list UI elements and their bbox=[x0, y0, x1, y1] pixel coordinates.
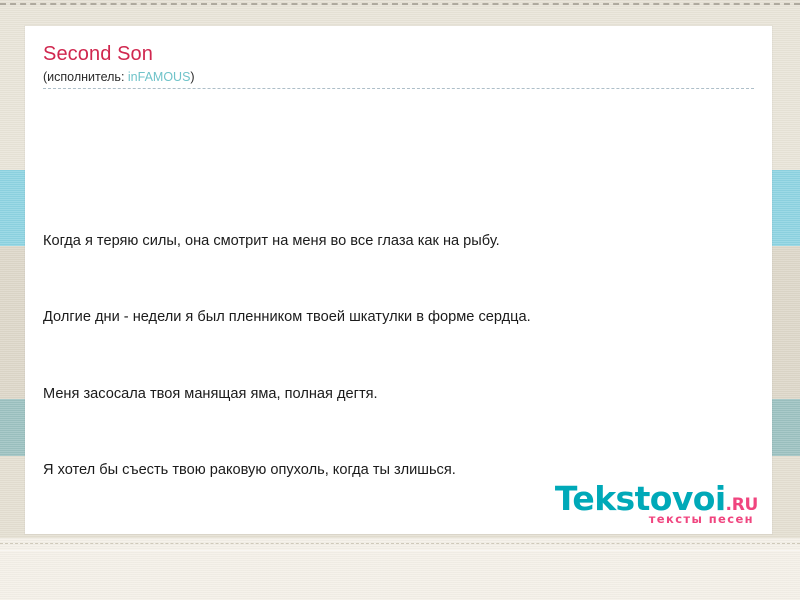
lyrics-sheet: Second Son (исполнитель: inFAMOUS) Когда… bbox=[25, 26, 772, 534]
lyrics-line: Когда я теряю силы, она смотрит на меня … bbox=[43, 229, 772, 255]
page-title: Second Son bbox=[43, 42, 772, 66]
artist-label: (исполнитель: bbox=[43, 70, 124, 84]
artist-paren-close: ) bbox=[190, 70, 194, 84]
logo-wordmark-row: Tekstovoi.RU bbox=[555, 482, 758, 515]
logo-wordmark: Tekstovoi bbox=[555, 482, 726, 515]
top-stitch-divider bbox=[0, 3, 800, 5]
artist-line: (исполнитель: inFAMOUS) bbox=[43, 69, 772, 85]
lyrics-line: Долгие дни - недели я был пленником твое… bbox=[43, 305, 772, 331]
lyrics-line: Меня засосала твоя манящая яма, полная д… bbox=[43, 382, 772, 408]
song-header: Second Son (исполнитель: inFAMOUS) bbox=[25, 26, 772, 85]
artist-link[interactable]: inFAMOUS bbox=[128, 70, 191, 84]
site-logo[interactable]: Tekstovoi.RU тексты песен bbox=[555, 482, 758, 526]
